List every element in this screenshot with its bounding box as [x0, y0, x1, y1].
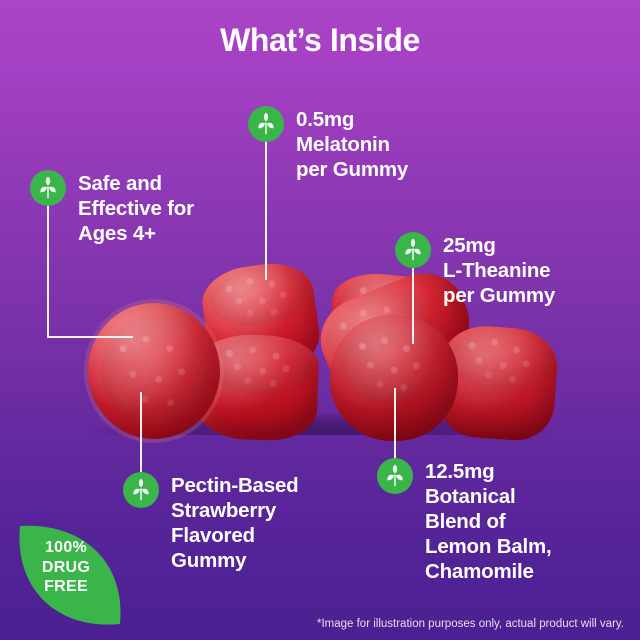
leaf-icon — [395, 232, 431, 268]
gummy-texture — [340, 324, 441, 404]
callout-label-pectin-gummy: Pectin-Based Strawberry Flavored Gummy — [171, 473, 381, 573]
gummy-texture — [205, 263, 310, 332]
callout-label-l-theanine: 25mg L-Theanine per Gummy — [443, 233, 640, 308]
leaf-icon — [123, 472, 159, 508]
disclaimer-text: *Image for illustration purposes only, a… — [317, 618, 624, 630]
callout-label-safe-effective: Safe and Effective for Ages 4+ — [78, 171, 268, 246]
page-title: What’s Inside — [0, 22, 640, 59]
connector-line-safe-effective — [47, 204, 49, 338]
connector-line-safe-effective-h — [47, 336, 133, 338]
connector-line-l-theanine — [412, 268, 414, 344]
gummy-texture — [205, 337, 312, 395]
connector-line-botanical-blend — [394, 388, 396, 466]
connector-line-melatonin — [265, 140, 267, 280]
connector-line-pectin-gummy — [140, 392, 142, 478]
drug-free-label: 100% DRUG FREE — [14, 538, 118, 597]
infographic-canvas: What’s Inside Safe and Effective for Age… — [0, 0, 640, 640]
leaf-icon — [30, 170, 66, 206]
gummy-texture — [447, 328, 553, 393]
leaf-icon — [248, 106, 284, 142]
callout-label-melatonin: 0.5mg Melatonin per Gummy — [296, 107, 486, 182]
leaf-icon — [377, 458, 413, 494]
drug-free-badge: 100% DRUG FREE — [14, 512, 132, 630]
callout-label-botanical-blend: 12.5mg Botanical Blend of Lemon Balm, Ch… — [425, 459, 640, 584]
gummy-texture — [98, 314, 209, 428]
